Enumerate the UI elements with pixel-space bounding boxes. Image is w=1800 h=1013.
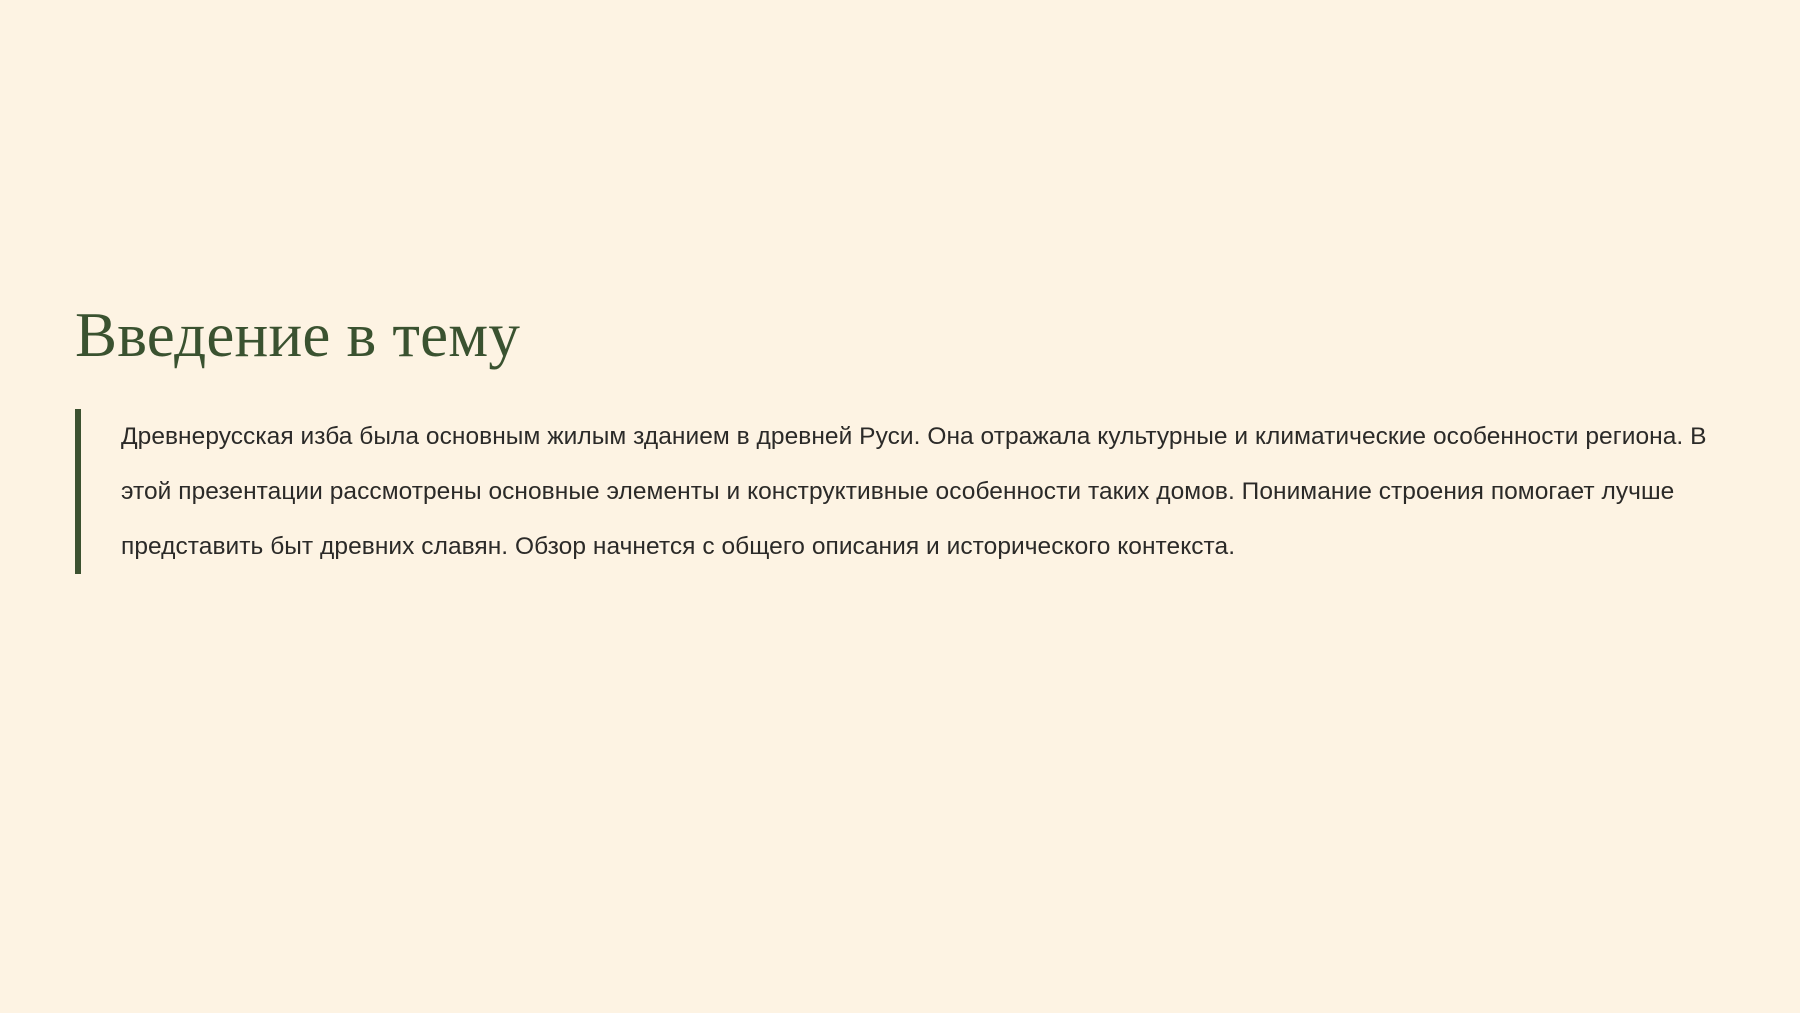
slide-content-block: Введение в тему Древнерусская изба была … <box>75 300 1735 574</box>
body-quote-block: Древнерусская изба была основным жилым з… <box>75 409 1735 574</box>
presentation-slide: Введение в тему Древнерусская изба была … <box>0 0 1800 1013</box>
page-title: Введение в тему <box>75 300 1735 371</box>
body-paragraph: Древнерусская изба была основным жилым з… <box>81 409 1735 574</box>
